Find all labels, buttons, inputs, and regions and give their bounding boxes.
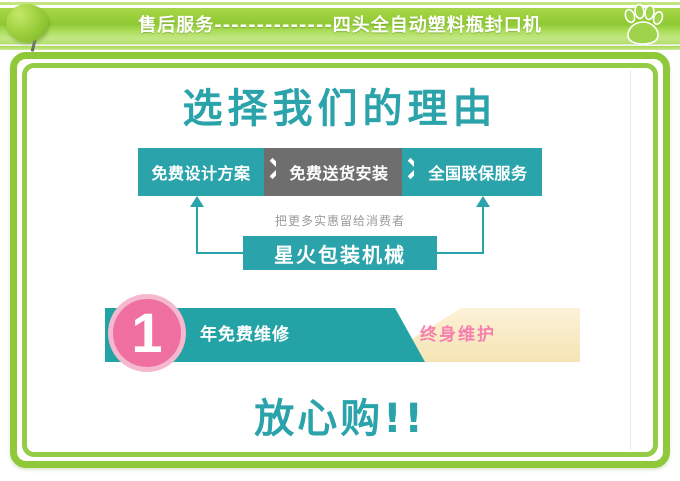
chevron-separator-2-icon <box>402 148 414 196</box>
connector-right-horizontal <box>434 252 484 254</box>
reason-box-design[interactable]: 免费设计方案 <box>138 148 264 196</box>
warranty-lifetime-label: 终身维护 <box>420 308 580 362</box>
header-title: 售后服务--------------四头全自动塑料瓶封口机 <box>0 8 680 44</box>
tagline-text: 把更多实惠留给消费者 <box>0 212 680 229</box>
promo-banner-page: 售后服务--------------四头全自动塑料瓶封口机 选择我们的理由 免费… <box>0 0 680 481</box>
reason-box-warranty-label: 全国联保服务 <box>428 160 527 184</box>
footer-slogan: 放心购!! <box>0 386 680 444</box>
brand-name-box: 星火包装机械 <box>243 236 437 270</box>
header-stripe-top <box>0 2 680 5</box>
brand-name-label: 星火包装机械 <box>274 239 406 268</box>
pushpin-head <box>6 4 48 42</box>
header-stripe-bottom <box>0 46 680 50</box>
warranty-year-badge: 1 <box>108 294 186 372</box>
page-title: 选择我们的理由 <box>0 76 680 134</box>
warranty-banner-slant-divider <box>375 308 425 362</box>
reason-box-delivery-label: 免费送货安装 <box>289 160 388 184</box>
connector-left-horizontal <box>196 252 246 254</box>
reasons-chevron-row: 免费设计方案 免费送货安装 全国联保服务 <box>138 148 542 196</box>
warranty-free-repair-label: 年免费维修 <box>200 308 350 362</box>
warranty-year-badge-number: 1 <box>131 305 162 361</box>
reason-box-warranty[interactable]: 全国联保服务 <box>414 148 542 196</box>
paw-print-icon <box>620 4 666 48</box>
reason-box-design-label: 免费设计方案 <box>151 160 250 184</box>
chevron-separator-1-icon <box>264 148 276 196</box>
pushpin-icon <box>6 4 60 56</box>
connector-right-arrow-icon <box>476 196 490 207</box>
connector-left-arrow-icon <box>190 196 204 207</box>
reason-box-delivery[interactable]: 免费送货安装 <box>276 148 402 196</box>
